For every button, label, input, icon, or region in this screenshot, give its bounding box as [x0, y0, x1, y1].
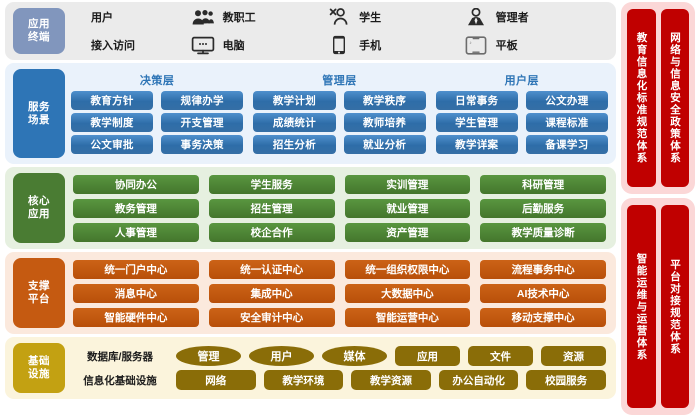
service-row: 公文审批 事务决策	[71, 135, 243, 154]
infrastructure-chip[interactable]: 文件	[468, 346, 533, 366]
infrastructure-chip[interactable]: 校园服务	[526, 370, 606, 390]
svg-text:♪: ♪	[469, 40, 471, 45]
support-chip[interactable]: 消息中心	[73, 284, 199, 303]
core-chip[interactable]: 学生服务	[209, 175, 335, 194]
layer-service: 服务 场景 决策层 教育方针 规律办学 教学制度	[5, 63, 616, 164]
service-chip[interactable]: 成绩统计	[253, 113, 335, 132]
layer-infrastructure-label: 基础 设施	[13, 343, 65, 393]
service-chip[interactable]: 教学秩序	[344, 91, 426, 110]
support-chip[interactable]: 统一认证中心	[209, 260, 335, 279]
service-column-user: 用户层 日常事务 公文办理 学生管理 课程标准 教学详案	[436, 72, 608, 154]
layer-core-label-line1: 核心	[28, 195, 50, 208]
support-grid: 统一门户中心 统一认证中心 统一组织权限中心 流程事务中心 消息中心 集成中心 …	[65, 255, 616, 332]
service-columns: 决策层 教育方针 规律办学 教学制度 开支管理 公文审批	[65, 69, 616, 159]
service-row: 教学制度 开支管理	[71, 113, 243, 132]
support-chip[interactable]: 统一组织权限中心	[345, 260, 471, 279]
service-chip[interactable]: 教学计划	[253, 91, 335, 110]
policy-panel-operations[interactable]: 智能运维与运营体系	[627, 205, 656, 408]
infrastructure-row-database-label: 数据库/服务器	[71, 349, 169, 364]
support-chip[interactable]: AI技术中心	[480, 284, 606, 303]
support-chip[interactable]: 移动支撑中心	[480, 308, 606, 327]
service-chip[interactable]: 招生分析	[253, 135, 335, 154]
service-chip[interactable]: 教学制度	[71, 113, 153, 132]
layer-core-label: 核心 应用	[13, 173, 65, 243]
layer-infrastructure-label-line2: 设施	[28, 368, 50, 381]
terminal-item-phone[interactable]: 手机	[326, 32, 462, 58]
infrastructure-chip[interactable]: 教学资源	[351, 370, 431, 390]
layer-terminal-label-line2: 终端	[28, 31, 50, 44]
layer-infrastructure: 基础 设施 数据库/服务器 管理 用户 媒体 应用 文件 资源	[5, 337, 616, 399]
support-chip[interactable]: 智能运营中心	[345, 308, 471, 327]
layer-support-body: 统一门户中心 统一认证中心 统一组织权限中心 流程事务中心 消息中心 集成中心 …	[65, 255, 616, 332]
student-person-icon	[326, 6, 352, 28]
core-chip[interactable]: 人事管理	[73, 223, 199, 242]
core-chip[interactable]: 教学质量诊断	[480, 223, 606, 242]
terminal-item-manager[interactable]: 管理者	[463, 4, 610, 30]
core-chip[interactable]: 就业管理	[345, 199, 471, 218]
policy-group-bottom: 智能运维与运营体系 平台对接规范体系	[621, 198, 695, 415]
service-column-decision-title: 决策层	[71, 72, 243, 88]
service-chip[interactable]: 规律办学	[161, 91, 243, 110]
service-chip[interactable]: 教育方针	[71, 91, 153, 110]
layer-support-label-line1: 支撑	[28, 280, 50, 293]
policy-panel-standards[interactable]: 教育信息化标准规范体系	[627, 9, 656, 187]
service-row: 教学计划 教学秩序	[253, 91, 425, 110]
layer-service-label-line1: 服务	[28, 101, 50, 114]
terminal-item-student-label: 学生	[359, 9, 381, 25]
infrastructure-ellipse[interactable]: 用户	[249, 346, 314, 366]
service-row: 教学详案 备课学习	[436, 135, 608, 154]
terminal-row-label-users: 用户	[75, 4, 190, 30]
infrastructure-chip[interactable]: 网络	[176, 370, 256, 390]
terminal-item-computer[interactable]: 电脑	[190, 32, 326, 58]
policy-panels: 教育信息化标准规范体系 网络与信息安全政策体系 智能运维与运营体系 平台对接规范…	[620, 0, 700, 417]
mobile-phone-icon	[326, 34, 352, 56]
core-chip[interactable]: 校企合作	[209, 223, 335, 242]
terminal-item-tablet-label: 平板	[496, 37, 518, 53]
core-chip[interactable]: 后勤服务	[480, 199, 606, 218]
service-chip[interactable]: 课程标准	[526, 113, 608, 132]
layer-support: 支撑 平台 统一门户中心 统一认证中心 统一组织权限中心 流程事务中心 消息中心…	[5, 252, 616, 334]
terminal-item-staff-label: 教职工	[223, 9, 256, 25]
infrastructure-chip[interactable]: 教学环境	[264, 370, 344, 390]
service-chip[interactable]: 事务决策	[161, 135, 243, 154]
infrastructure-row-database: 数据库/服务器 管理 用户 媒体 应用 文件 资源	[71, 346, 606, 366]
layer-service-label: 服务 场景	[13, 69, 65, 158]
core-chip[interactable]: 资产管理	[345, 223, 471, 242]
layer-stack: 应用 终端 用户 教职工	[0, 0, 620, 417]
infrastructure-chip[interactable]: 资源	[541, 346, 606, 366]
core-chip[interactable]: 协同办公	[73, 175, 199, 194]
service-row: 日常事务 公文办理	[436, 91, 608, 110]
service-row: 教育方针 规律办学	[71, 91, 243, 110]
layer-terminal-label-line1: 应用	[28, 18, 50, 31]
group-people-icon	[190, 6, 216, 28]
infrastructure-ellipse[interactable]: 管理	[176, 346, 241, 366]
layer-core: 核心 应用 协同办公 学生服务 实训管理 科研管理 教务管理 招生管理 就业管理…	[5, 167, 616, 249]
architecture-diagram: 应用 终端 用户 教职工	[0, 0, 700, 417]
layer-service-label-line2: 场景	[28, 114, 50, 127]
support-chip[interactable]: 安全审计中心	[209, 308, 335, 327]
service-chip[interactable]: 教学详案	[436, 135, 518, 154]
service-row: 招生分析 就业分析	[253, 135, 425, 154]
service-chip[interactable]: 教师培养	[344, 113, 426, 132]
core-chip[interactable]: 教务管理	[73, 199, 199, 218]
policy-group-top: 教育信息化标准规范体系 网络与信息安全政策体系	[621, 2, 695, 194]
support-chip[interactable]: 流程事务中心	[480, 260, 606, 279]
layer-core-label-line2: 应用	[28, 208, 50, 221]
terminal-row-label-access: 接入访问	[75, 32, 190, 58]
manager-suit-icon	[463, 6, 489, 28]
layer-terminal-label: 应用 终端	[13, 8, 65, 54]
infrastructure-chip[interactable]: 应用	[395, 346, 460, 366]
terminal-item-student[interactable]: 学生	[326, 4, 462, 30]
policy-panel-integration[interactable]: 平台对接规范体系	[661, 205, 690, 408]
terminal-item-phone-label: 手机	[359, 37, 381, 53]
service-row: 成绩统计 教师培养	[253, 113, 425, 132]
infrastructure-row-it-infrastructure: 信息化基础设施 网络 教学环境 教学资源 办公自动化 校园服务	[71, 370, 606, 390]
infrastructure-chip[interactable]: 办公自动化	[439, 370, 519, 390]
service-column-management: 管理层 教学计划 教学秩序 成绩统计 教师培养 招生分析	[253, 72, 425, 154]
layer-support-label: 支撑 平台	[13, 258, 65, 328]
layer-support-label-line2: 平台	[28, 293, 50, 306]
layer-service-body: 决策层 教育方针 规律办学 教学制度 开支管理 公文审批	[65, 69, 616, 159]
service-chip[interactable]: 公文审批	[71, 135, 153, 154]
service-chip[interactable]: 就业分析	[344, 135, 426, 154]
infrastructure-rows: 数据库/服务器 管理 用户 媒体 应用 文件 资源 信息化基础设施	[65, 341, 616, 395]
support-chip[interactable]: 大数据中心	[345, 284, 471, 303]
layer-infrastructure-label-line1: 基础	[28, 355, 50, 368]
service-row: 学生管理 课程标准	[436, 113, 608, 132]
core-chip[interactable]: 科研管理	[480, 175, 606, 194]
layer-core-body: 协同办公 学生服务 实训管理 科研管理 教务管理 招生管理 就业管理 后勤服务 …	[65, 170, 616, 247]
service-column-user-title: 用户层	[436, 72, 608, 88]
infrastructure-row-it-label: 信息化基础设施	[71, 373, 169, 388]
support-chip[interactable]: 集成中心	[209, 284, 335, 303]
service-chip[interactable]: 备课学习	[526, 135, 608, 154]
terminal-item-tablet[interactable]: ♪ 平板	[463, 32, 610, 58]
terminal-item-staff[interactable]: 教职工	[190, 4, 326, 30]
policy-panel-security[interactable]: 网络与信息安全政策体系	[661, 9, 690, 187]
layer-terminal: 应用 终端 用户 教职工	[5, 2, 616, 60]
service-column-management-title: 管理层	[253, 72, 425, 88]
support-chip[interactable]: 统一门户中心	[73, 260, 199, 279]
support-chip[interactable]: 智能硬件中心	[73, 308, 199, 327]
terminal-grid: 用户 教职工 学生	[65, 4, 616, 58]
core-grid: 协同办公 学生服务 实训管理 科研管理 教务管理 招生管理 就业管理 后勤服务 …	[65, 170, 616, 247]
service-chip[interactable]: 公文办理	[526, 91, 608, 110]
service-chip[interactable]: 学生管理	[436, 113, 518, 132]
core-chip[interactable]: 实训管理	[345, 175, 471, 194]
layer-terminal-body: 用户 教职工 学生	[65, 4, 616, 58]
infrastructure-ellipse[interactable]: 媒体	[322, 346, 387, 366]
layer-infrastructure-body: 数据库/服务器 管理 用户 媒体 应用 文件 资源 信息化基础设施	[65, 341, 616, 395]
terminal-item-manager-label: 管理者	[496, 9, 529, 25]
service-chip[interactable]: 开支管理	[161, 113, 243, 132]
service-column-decision: 决策层 教育方针 规律办学 教学制度 开支管理 公文审批	[71, 72, 243, 154]
core-chip[interactable]: 招生管理	[209, 199, 335, 218]
terminal-item-computer-label: 电脑	[223, 37, 245, 53]
service-chip[interactable]: 日常事务	[436, 91, 518, 110]
desktop-monitor-icon	[190, 34, 216, 56]
tablet-icon: ♪	[463, 34, 489, 56]
